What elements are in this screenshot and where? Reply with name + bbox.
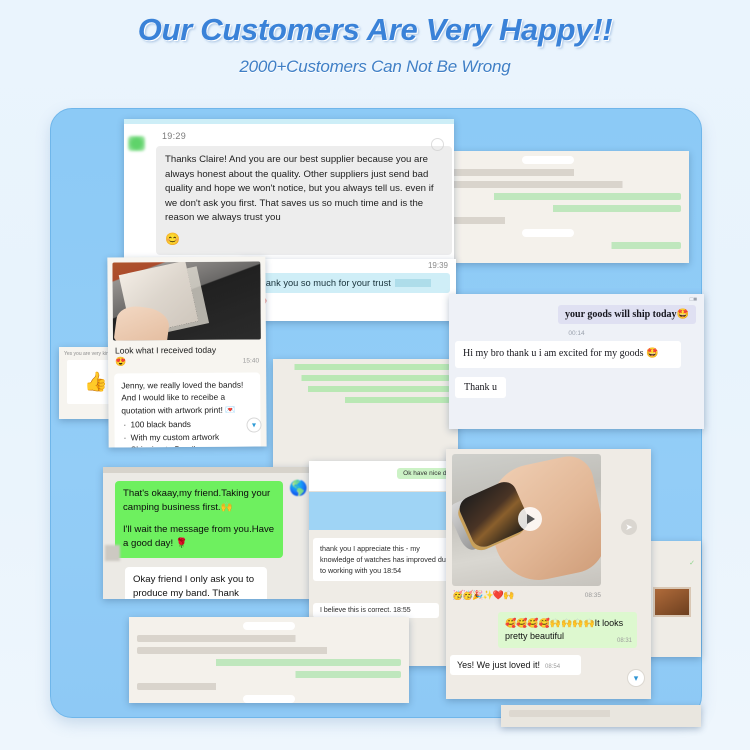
chat-screenshot-card-camping[interactable]: 🌎 That's okaay,my friend.Taking your cam…	[103, 467, 313, 599]
chat-screenshot-card-blurred-bottom-right[interactable]	[501, 705, 701, 727]
message-text: That's okaay,my friend.Taking your campi…	[123, 488, 270, 513]
emoji: 🙌	[221, 502, 233, 513]
chat-screenshot-card-ship-today[interactable]: □■ your goods will ship today🤩 00:14 Hi …	[449, 294, 704, 429]
status-icon: □■	[449, 294, 704, 303]
message-text: Thanks Claire! And you are our best supp…	[165, 154, 434, 223]
lipstick-emoji: 💌	[225, 405, 235, 415]
message-bubble-incoming: Okay friend I only ask you to produce my…	[125, 567, 267, 599]
message-timestamp: 18:55	[393, 607, 411, 614]
message-timestamp: 08:35	[585, 592, 601, 599]
photo-caption: Look what I received today	[108, 339, 266, 356]
chat-line-outgoing	[414, 193, 681, 200]
message-timestamp: 19:29	[162, 131, 446, 141]
chat-screenshot-card-watch-video[interactable]: ➤ 🥳🥳🎉✨❤️🙌 08:35 🥰🥰🥰🥰🙌🙌🙌🙌It looks pretty …	[446, 449, 651, 699]
chat-line-outgoing	[281, 386, 450, 392]
message-text: thank you so much for your trust	[258, 278, 391, 288]
chat-line-outgoing	[137, 659, 401, 666]
emoji-icon	[431, 138, 444, 151]
play-icon[interactable]	[518, 507, 542, 531]
chat-line	[414, 169, 681, 176]
message-bubble-outgoing: 🥰🥰🥰🥰🙌🙌🙌🙌It looks pretty beautiful 08:31	[498, 612, 637, 648]
page-title: Our Customers Are Very Happy!!	[0, 12, 750, 48]
chat-line-outgoing	[281, 364, 450, 370]
globe-sticker-icon: 🌎	[289, 479, 308, 497]
chat-line-outgoing	[137, 671, 401, 678]
chat-line	[137, 683, 401, 690]
product-thumbnail	[653, 587, 691, 617]
date-chip	[243, 622, 295, 630]
message-bubble-incoming: Thanks Claire! And you are our best supp…	[156, 146, 452, 255]
chat-line	[509, 710, 693, 717]
date-chip	[522, 156, 574, 164]
avatar	[128, 136, 145, 151]
check-icon: ✓	[689, 559, 695, 567]
message-text: your goods will ship today	[565, 309, 677, 320]
reaction-emoji-row: 🥳🥳🎉✨❤️🙌	[452, 590, 513, 601]
message-reaction-emoji: 😊	[165, 230, 443, 248]
message-bubble-outgoing: thank you so much for your trust	[251, 273, 450, 293]
message-timestamp: 08:54	[545, 664, 560, 670]
date-chip	[522, 229, 574, 237]
message-timestamp: 00:14	[449, 324, 704, 341]
chat-line	[137, 635, 401, 642]
chat-line-outgoing	[281, 375, 450, 381]
chat-line-outgoing	[281, 397, 450, 403]
chevron-down-icon[interactable]: ▾	[627, 669, 645, 687]
page-subtitle: 2000+Customers Can Not Be Wrong	[0, 57, 750, 77]
message-bubble-quote-request: Jenny, we really loved the bands! And I …	[114, 372, 261, 447]
avatar	[105, 545, 120, 561]
message-text: I'll wait the message from you.Have a go…	[123, 524, 274, 549]
emoji: 🤩	[646, 348, 658, 359]
chat-line	[414, 217, 681, 224]
page-header: Our Customers Are Very Happy!! 2000+Cust…	[0, 0, 750, 77]
date-chip	[243, 695, 295, 703]
message-text: I believe this is correct.	[320, 607, 391, 614]
quote-item-list: 100 black bands With my custom artwork S…	[121, 418, 253, 448]
chat-line-outgoing	[414, 205, 681, 212]
message-bubble-incoming: Hi my bro thank u i am excited for my go…	[455, 341, 681, 368]
chat-line	[137, 647, 401, 654]
list-item: 100 black bands	[130, 418, 253, 431]
message-text: Yes! We just loved it!	[457, 660, 540, 670]
message-timestamp: 18:54	[383, 566, 401, 575]
list-item: Shipping to Brazil	[131, 443, 254, 448]
message-bubble-incoming: Yes! We just loved it!08:54	[450, 655, 581, 675]
chat-line-outgoing	[414, 242, 681, 249]
chat-screenshot-card-blurred-bottom-left[interactable]	[129, 617, 409, 703]
reaction-emoji: 😍	[115, 356, 126, 367]
chat-line	[414, 181, 681, 188]
message-bubble-incoming: thank you I appreciate this - my knowled…	[313, 538, 459, 581]
message-bubble-incoming: Thank u	[455, 377, 506, 398]
emoji: 🌹	[176, 538, 188, 549]
card-top-strip	[103, 467, 313, 473]
chat-screenshot-card-trust[interactable]: 19:39 thank you so much for your trust ❤…	[241, 259, 456, 321]
message-bubble-outgoing: your goods will ship today🤩	[558, 305, 696, 324]
heart-icon: ❤️	[241, 293, 456, 312]
watch-video-thumbnail[interactable]	[452, 454, 601, 586]
testimonial-collage-panel: 19:29 Thanks Claire! And you are our bes…	[50, 108, 702, 718]
message-bubble-outgoing: That's okaay,my friend.Taking your campi…	[115, 481, 283, 558]
message-timestamp: 19:39	[241, 259, 456, 270]
redacted-block	[395, 279, 431, 287]
message-text: Hi my bro thank u i am excited for my go…	[463, 348, 644, 359]
message-timestamp: 15:40	[243, 357, 259, 364]
emoji: 🥰🥰🥰🥰🙌🙌🙌🙌	[505, 618, 595, 628]
chevron-down-icon[interactable]: ▾	[246, 417, 261, 432]
forward-icon[interactable]: ➤	[621, 519, 637, 535]
message-text: Okay friend I only ask you to produce my…	[133, 574, 254, 599]
chat-screenshot-card-photo-quote[interactable]: Look what I received today 😍 15:40 Jenny…	[107, 256, 266, 447]
received-bands-photo	[112, 261, 261, 340]
emoji: 🤩	[677, 309, 689, 320]
chat-screenshot-card-blurred-mid-green[interactable]	[273, 359, 458, 467]
list-item: With my custom artwork	[131, 430, 254, 443]
message-timestamp: 08:31	[617, 637, 632, 646]
